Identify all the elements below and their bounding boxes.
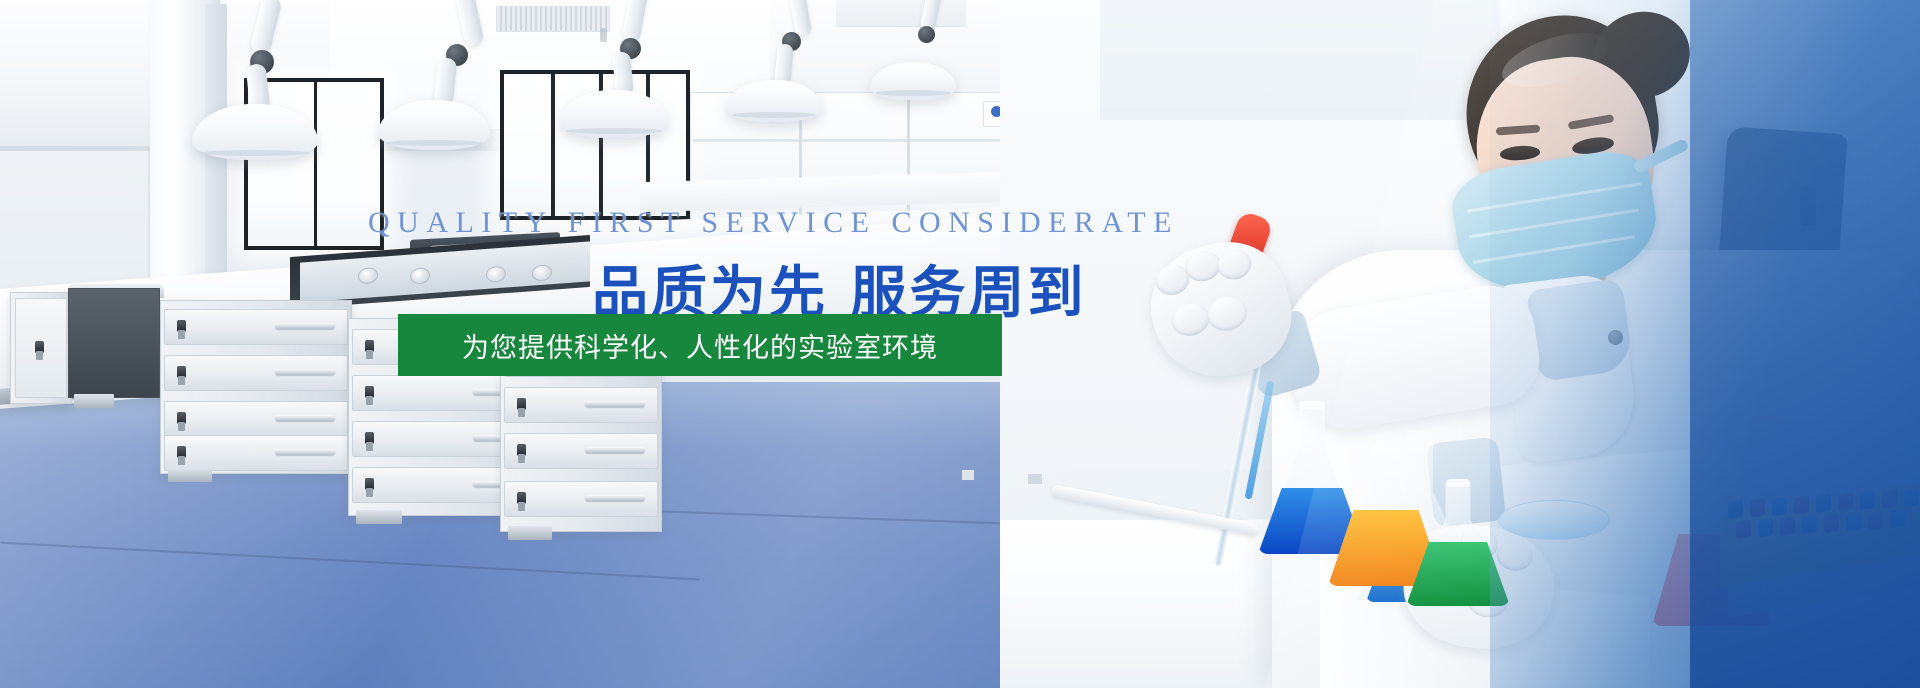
lock-icon — [177, 446, 186, 458]
drawer-handle — [585, 401, 645, 407]
exhaust-hood-arm — [840, 0, 1010, 160]
hood-bell — [560, 90, 668, 138]
drawer — [164, 401, 348, 437]
glove-knuckle — [1214, 246, 1254, 283]
hood-upper-arm — [249, 0, 282, 56]
lock-icon — [365, 432, 374, 444]
drawer — [164, 355, 348, 391]
glove-knuckle — [1168, 300, 1213, 340]
drawer-handle — [585, 495, 645, 501]
lock-icon — [517, 492, 526, 504]
lock-icon — [517, 444, 526, 456]
exhaust-hood-arm — [170, 0, 370, 190]
cabinet-foot — [356, 510, 402, 524]
hood-joint — [918, 26, 935, 43]
drawer-cabinet — [160, 300, 352, 474]
lock-icon — [517, 398, 526, 410]
drawer — [504, 387, 658, 423]
drawer-handle — [275, 449, 335, 455]
lab-hero-banner: QUALITY FIRST SERVICE CONSIDERATE 品质为先 服… — [0, 0, 1920, 688]
cabinet-foot — [508, 526, 552, 540]
drawer-handle — [275, 369, 335, 375]
lock-icon — [517, 352, 526, 364]
hood-bell — [870, 62, 956, 100]
bench-knob-icon[interactable] — [532, 264, 552, 281]
drawer — [164, 309, 348, 345]
lock-icon — [177, 412, 186, 424]
lock-icon — [177, 320, 186, 332]
exhaust-hood-arm — [350, 0, 540, 190]
bench-knob-icon[interactable] — [410, 267, 430, 284]
drawer-handle — [275, 323, 335, 329]
hood-bell — [192, 104, 318, 160]
cabinet-foot — [168, 468, 212, 482]
drawer-handle — [275, 415, 335, 421]
under-bench-cabinet — [10, 292, 72, 404]
counter-marking — [962, 470, 974, 480]
hood-bell — [378, 100, 490, 150]
drawer — [504, 481, 658, 517]
drawer-handle — [585, 447, 645, 453]
drawer — [504, 433, 658, 469]
lock-icon — [35, 341, 44, 353]
bench-knob-icon[interactable] — [486, 266, 506, 283]
hood-upper-arm — [621, 0, 648, 43]
drawer — [504, 341, 658, 377]
lock-icon — [365, 386, 374, 398]
cabinet-foot — [74, 394, 114, 408]
drawer-cabinet — [500, 330, 662, 532]
lock-icon — [177, 366, 186, 378]
waste-bin — [68, 288, 160, 398]
exhaust-hood-arm — [530, 0, 720, 180]
glove-knuckle — [1204, 292, 1251, 335]
lock-icon — [365, 340, 374, 352]
hood-bell — [726, 80, 822, 122]
hood-upper-arm — [454, 0, 484, 47]
drawer-handle — [585, 355, 645, 361]
counter-marking — [1028, 474, 1042, 484]
lock-icon — [365, 478, 374, 490]
drawer — [164, 435, 348, 471]
bench-knob-icon[interactable] — [358, 267, 378, 284]
